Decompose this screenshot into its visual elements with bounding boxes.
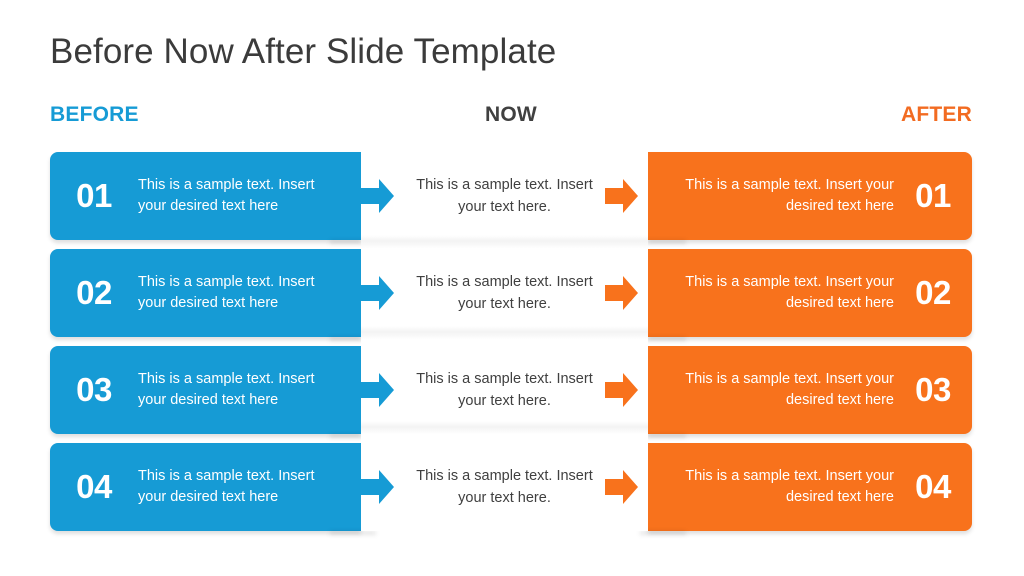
after-text: This is a sample text. Insert your desir… [648,272,894,314]
arrow-right-orange-icon [605,371,639,409]
before-bar-shadow [330,531,376,535]
after-step-number: 02 [894,274,972,312]
before-text: This is a sample text. Insert your desir… [138,272,361,314]
after-step-number: 04 [894,468,972,506]
before-bar[interactable]: 01This is a sample text. Insert your des… [50,152,361,240]
before-bar[interactable]: 02This is a sample text. Insert your des… [50,249,361,337]
after-bar[interactable]: This is a sample text. Insert your desir… [648,249,972,337]
now-text: This is a sample text. Insert your text … [404,174,605,218]
now-text: This is a sample text. Insert your text … [404,271,605,315]
arrow-right-orange-icon [605,274,639,312]
now-cell: This is a sample text. Insert your text … [361,152,648,240]
after-step-number: 01 [894,177,972,215]
after-bar[interactable]: This is a sample text. Insert your desir… [648,346,972,434]
arrow-right-blue-icon [361,371,395,409]
before-text: This is a sample text. Insert your desir… [138,175,361,217]
now-cell: This is a sample text. Insert your text … [361,443,648,531]
now-text: This is a sample text. Insert your text … [404,368,605,412]
arrow-right-orange-icon [605,177,639,215]
before-step-number: 03 [50,371,138,409]
before-bar[interactable]: 04This is a sample text. Insert your des… [50,443,361,531]
before-bar[interactable]: 03This is a sample text. Insert your des… [50,346,361,434]
now-cell: This is a sample text. Insert your text … [361,346,648,434]
after-bar-shadow [640,531,686,535]
before-step-number: 04 [50,468,138,506]
arrow-right-blue-icon [361,468,395,506]
slide-canvas: Before Now After Slide Template BEFORE N… [0,0,1024,576]
before-step-number: 01 [50,177,138,215]
after-bar[interactable]: This is a sample text. Insert your desir… [648,152,972,240]
arrow-right-orange-icon [605,468,639,506]
arrow-right-blue-icon [361,177,395,215]
column-header-after: AFTER [901,100,972,130]
now-cell: This is a sample text. Insert your text … [361,249,648,337]
table-row: 03This is a sample text. Insert your des… [0,346,1024,434]
page-title: Before Now After Slide Template [50,32,556,72]
table-row: 01This is a sample text. Insert your des… [0,152,1024,240]
after-text: This is a sample text. Insert your desir… [648,175,894,217]
column-headers: BEFORE NOW AFTER [50,100,972,130]
column-header-before: BEFORE [50,100,139,130]
after-bar[interactable]: This is a sample text. Insert your desir… [648,443,972,531]
before-text: This is a sample text. Insert your desir… [138,466,361,508]
before-text: This is a sample text. Insert your desir… [138,369,361,411]
table-row: 02This is a sample text. Insert your des… [0,249,1024,337]
after-text: This is a sample text. Insert your desir… [648,369,894,411]
after-text: This is a sample text. Insert your desir… [648,466,894,508]
after-step-number: 03 [894,371,972,409]
column-header-now: NOW [362,100,660,130]
arrow-right-blue-icon [361,274,395,312]
now-text: This is a sample text. Insert your text … [404,465,605,509]
table-row: 04This is a sample text. Insert your des… [0,443,1024,531]
rows-container: 01This is a sample text. Insert your des… [0,152,1024,552]
before-step-number: 02 [50,274,138,312]
